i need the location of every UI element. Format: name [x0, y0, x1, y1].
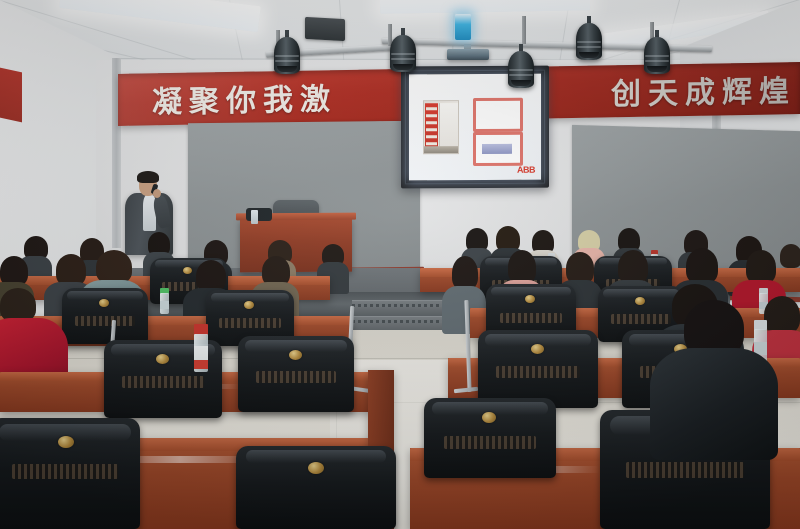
water-bottle: [160, 288, 169, 314]
banner-left-wrap: [0, 68, 22, 123]
abb-logo: ABB: [517, 165, 535, 175]
presenter-hair: [137, 171, 159, 183]
screen-surface: ABB: [409, 74, 541, 181]
projector-indicator-light: [455, 14, 471, 40]
slide-diagram-box-top: [473, 98, 523, 132]
conference-room-photo: 凝聚你我激 创天成辉煌: [0, 0, 800, 529]
track-drop-rod: [522, 16, 526, 44]
auditorium-chair[interactable]: [62, 288, 148, 344]
auditorium-chair[interactable]: [0, 418, 140, 529]
slide-diagram-bar: [482, 144, 512, 154]
presenter-hand: [153, 189, 161, 198]
spotlight: [508, 44, 534, 88]
auditorium-chair[interactable]: [238, 336, 354, 412]
auditorium-chair[interactable]: [424, 398, 556, 478]
slide-diagram-box-bottom: [473, 132, 523, 166]
projector-body: [447, 49, 489, 60]
spotlight: [576, 16, 602, 60]
ceiling-speaker-box: [305, 17, 345, 41]
slide-cabinet-base: [424, 146, 458, 153]
slide-cabinet-image: [423, 100, 459, 154]
slide-cabinet-interior: [439, 103, 458, 151]
bottle-label: [194, 346, 208, 360]
slide-cabinet-door: [425, 103, 438, 151]
lectern-water-bottle: [251, 210, 258, 224]
auditorium-chair[interactable]: [478, 330, 598, 408]
water-bottle: [194, 324, 208, 372]
lectern-microphone: [246, 208, 272, 221]
spotlight: [274, 30, 300, 74]
auditorium-chair[interactable]: [236, 446, 396, 529]
spotlight: [390, 28, 416, 72]
ceiling-projector: [447, 44, 489, 60]
spotlight: [644, 30, 670, 74]
